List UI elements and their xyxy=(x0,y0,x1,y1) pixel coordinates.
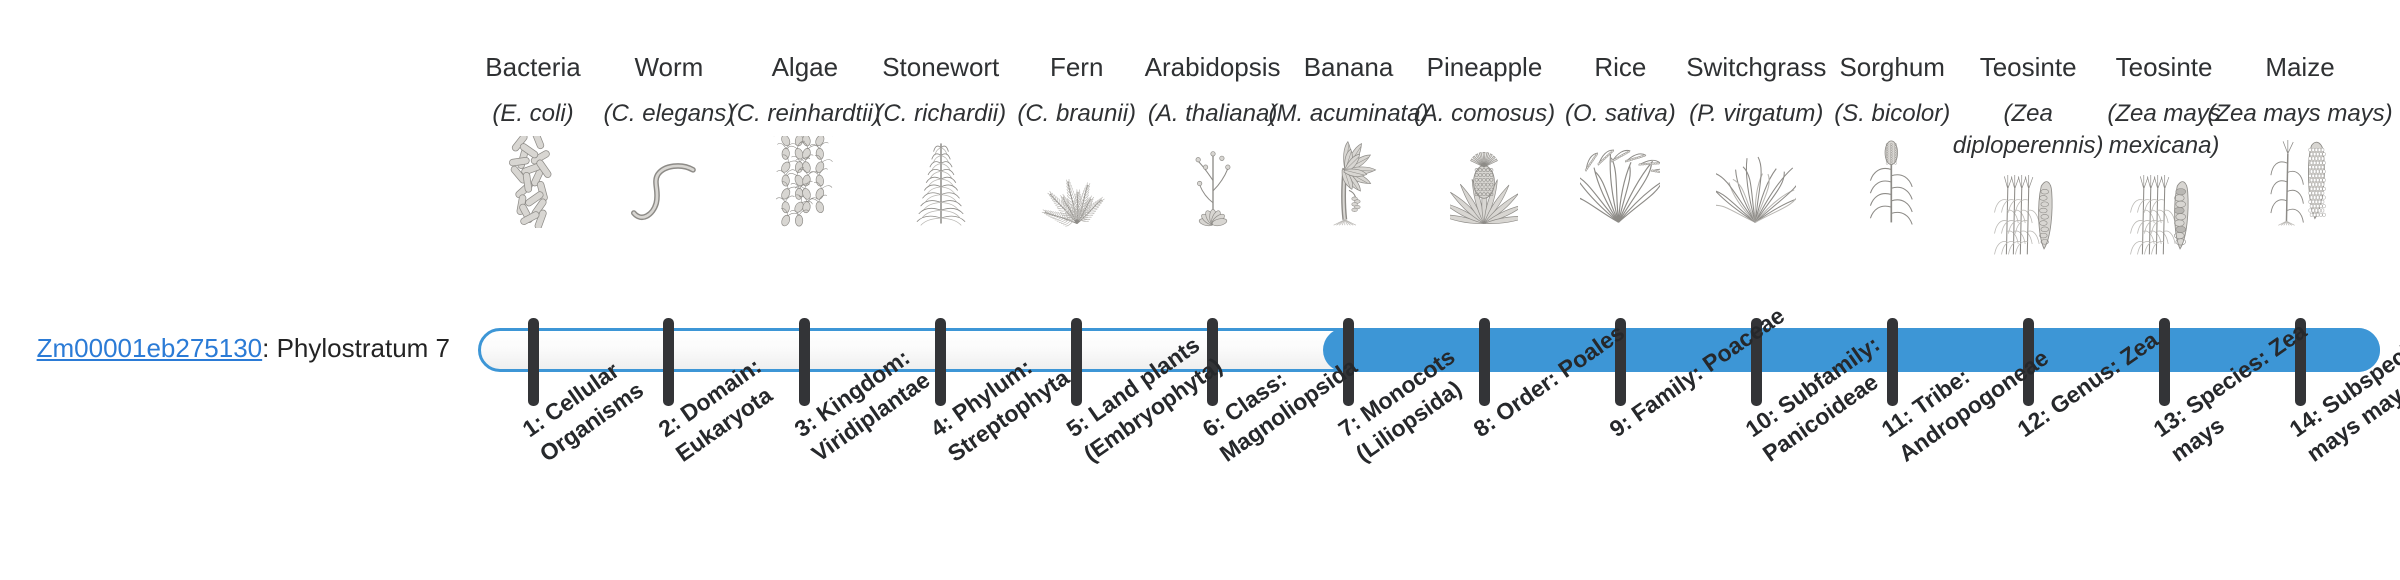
gene-label-separator: : xyxy=(262,333,276,363)
phylostratum-diagram: Bacteria(E. coli)Worm(C. elegans)Algae(C… xyxy=(0,0,2400,580)
gene-id-link[interactable]: Zm00001eb275130 xyxy=(37,333,263,363)
maize-icon xyxy=(2200,136,2400,228)
species-common-name: Maize xyxy=(2200,50,2400,85)
species-header-row: Bacteria(E. coli)Worm(C. elegans)Algae(C… xyxy=(0,0,2400,310)
gene-phylostratum-label: Zm00001eb275130: Phylostratum 7 xyxy=(0,333,450,364)
species-latin-name: (Zea mays mays) xyxy=(2200,98,2400,130)
species-column: Maize(Zea mays mays) xyxy=(2200,50,2400,228)
phylostratum-value: Phylostratum 7 xyxy=(277,333,450,363)
phylostratum-tick[interactable] xyxy=(528,318,539,406)
